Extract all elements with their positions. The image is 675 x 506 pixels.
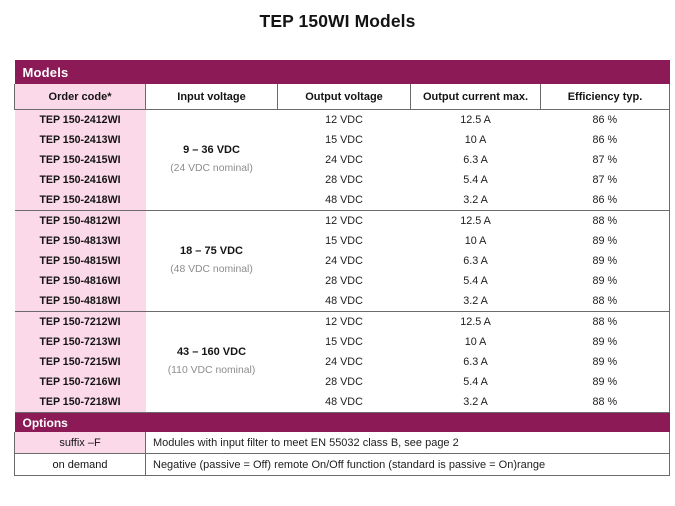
option-row: on demand Negative (passive = Off) remot… — [15, 454, 670, 476]
options-banner-label: Options — [15, 413, 670, 433]
output-current-cell: 5.4 A — [411, 372, 541, 392]
option-row: suffix –F Modules with input filter to m… — [15, 432, 670, 454]
options-banner-row: Options — [15, 413, 670, 433]
table-row: TEP 150-7216WI 28 VDC 5.4 A 89 % — [15, 372, 670, 392]
input-voltage-nominal: (24 VDC nominal) — [146, 161, 278, 176]
table-row: TEP 150-4815WI 24 VDC 6.3 A 89 % — [15, 251, 670, 271]
efficiency-cell: 87 % — [541, 170, 670, 190]
output-current-cell: 10 A — [411, 231, 541, 251]
models-table-container: Models Order code* Input voltage Output … — [14, 60, 669, 476]
efficiency-cell: 88 % — [541, 291, 670, 312]
efficiency-cell: 89 % — [541, 231, 670, 251]
option-description: Modules with input filter to meet EN 550… — [146, 432, 670, 454]
table-row: TEP 150-2412WI 9 – 36 VDC (24 VDC nomina… — [15, 110, 670, 131]
table-row: TEP 150-4812WI 18 – 75 VDC (48 VDC nomin… — [15, 211, 670, 232]
table-row: TEP 150-2415WI 24 VDC 6.3 A 87 % — [15, 150, 670, 170]
column-header-input-voltage: Input voltage — [146, 84, 278, 110]
table-row: TEP 150-7218WI 48 VDC 3.2 A 88 % — [15, 392, 670, 413]
order-code-cell: TEP 150-2412WI — [15, 110, 146, 131]
table-row: TEP 150-7215WI 24 VDC 6.3 A 89 % — [15, 352, 670, 372]
column-header-output-voltage: Output voltage — [278, 84, 411, 110]
input-voltage-cell: 43 – 160 VDC (110 VDC nominal) — [146, 312, 278, 413]
output-voltage-cell: 15 VDC — [278, 332, 411, 352]
output-voltage-cell: 12 VDC — [278, 110, 411, 131]
order-code-cell: TEP 150-4812WI — [15, 211, 146, 232]
document-page: TEP 150WI Models Models Order code* Inpu… — [0, 0, 675, 506]
output-current-cell: 5.4 A — [411, 170, 541, 190]
models-table-body: Models Order code* Input voltage Output … — [15, 60, 670, 476]
efficiency-cell: 87 % — [541, 150, 670, 170]
efficiency-cell: 89 % — [541, 372, 670, 392]
output-voltage-cell: 48 VDC — [278, 392, 411, 413]
efficiency-cell: 89 % — [541, 332, 670, 352]
input-voltage-nominal: (48 VDC nominal) — [146, 262, 278, 277]
output-voltage-cell: 28 VDC — [278, 170, 411, 190]
order-code-cell: TEP 150-4818WI — [15, 291, 146, 312]
option-key: suffix –F — [15, 432, 146, 454]
table-row: TEP 150-4818WI 48 VDC 3.2 A 88 % — [15, 291, 670, 312]
output-voltage-cell: 28 VDC — [278, 372, 411, 392]
order-code-cell: TEP 150-2418WI — [15, 190, 146, 211]
output-current-cell: 6.3 A — [411, 251, 541, 271]
output-voltage-cell: 48 VDC — [278, 190, 411, 211]
output-voltage-cell: 48 VDC — [278, 291, 411, 312]
output-voltage-cell: 15 VDC — [278, 231, 411, 251]
output-current-cell: 12.5 A — [411, 211, 541, 232]
output-current-cell: 3.2 A — [411, 392, 541, 413]
section-banner-label: Models — [15, 60, 670, 84]
efficiency-cell: 86 % — [541, 110, 670, 131]
output-current-cell: 3.2 A — [411, 190, 541, 211]
table-row: TEP 150-4813WI 15 VDC 10 A 89 % — [15, 231, 670, 251]
output-current-cell: 3.2 A — [411, 291, 541, 312]
section-banner-row: Models — [15, 60, 670, 84]
column-header-row: Order code* Input voltage Output voltage… — [15, 84, 670, 110]
table-row: TEP 150-7212WI 43 – 160 VDC (110 VDC nom… — [15, 312, 670, 333]
table-row: TEP 150-4816WI 28 VDC 5.4 A 89 % — [15, 271, 670, 291]
efficiency-cell: 88 % — [541, 392, 670, 413]
input-voltage-range: 43 – 160 VDC — [146, 345, 278, 361]
efficiency-cell: 89 % — [541, 251, 670, 271]
column-header-output-current: Output current max. — [411, 84, 541, 110]
output-current-cell: 12.5 A — [411, 312, 541, 333]
order-code-cell: TEP 150-7215WI — [15, 352, 146, 372]
efficiency-cell: 89 % — [541, 271, 670, 291]
option-key: on demand — [15, 454, 146, 476]
table-row: TEP 150-7213WI 15 VDC 10 A 89 % — [15, 332, 670, 352]
order-code-cell: TEP 150-2415WI — [15, 150, 146, 170]
output-current-cell: 10 A — [411, 332, 541, 352]
output-voltage-cell: 12 VDC — [278, 312, 411, 333]
order-code-cell: TEP 150-7213WI — [15, 332, 146, 352]
output-voltage-cell: 24 VDC — [278, 352, 411, 372]
page-title: TEP 150WI Models — [0, 11, 675, 32]
input-voltage-cell: 9 – 36 VDC (24 VDC nominal) — [146, 110, 278, 211]
output-voltage-cell: 15 VDC — [278, 130, 411, 150]
input-voltage-cell: 18 – 75 VDC (48 VDC nominal) — [146, 211, 278, 312]
efficiency-cell: 88 % — [541, 312, 670, 333]
efficiency-cell: 86 % — [541, 130, 670, 150]
output-current-cell: 5.4 A — [411, 271, 541, 291]
input-voltage-range: 18 – 75 VDC — [146, 244, 278, 260]
order-code-cell: TEP 150-4813WI — [15, 231, 146, 251]
order-code-cell: TEP 150-7216WI — [15, 372, 146, 392]
efficiency-cell: 86 % — [541, 190, 670, 211]
models-table: Models Order code* Input voltage Output … — [14, 60, 670, 476]
output-voltage-cell: 24 VDC — [278, 251, 411, 271]
order-code-cell: TEP 150-7212WI — [15, 312, 146, 333]
input-voltage-range: 9 – 36 VDC — [146, 143, 278, 159]
table-row: TEP 150-2418WI 48 VDC 3.2 A 86 % — [15, 190, 670, 211]
order-code-cell: TEP 150-4816WI — [15, 271, 146, 291]
output-current-cell: 6.3 A — [411, 150, 541, 170]
output-current-cell: 12.5 A — [411, 110, 541, 131]
order-code-cell: TEP 150-7218WI — [15, 392, 146, 413]
order-code-cell: TEP 150-4815WI — [15, 251, 146, 271]
output-voltage-cell: 24 VDC — [278, 150, 411, 170]
output-voltage-cell: 12 VDC — [278, 211, 411, 232]
output-current-cell: 10 A — [411, 130, 541, 150]
column-header-order-code: Order code* — [15, 84, 146, 110]
column-header-efficiency: Efficiency typ. — [541, 84, 670, 110]
order-code-cell: TEP 150-2413WI — [15, 130, 146, 150]
output-current-cell: 6.3 A — [411, 352, 541, 372]
order-code-cell: TEP 150-2416WI — [15, 170, 146, 190]
input-voltage-nominal: (110 VDC nominal) — [146, 363, 278, 378]
table-row: TEP 150-2416WI 28 VDC 5.4 A 87 % — [15, 170, 670, 190]
option-description: Negative (passive = Off) remote On/Off f… — [146, 454, 670, 476]
output-voltage-cell: 28 VDC — [278, 271, 411, 291]
efficiency-cell: 89 % — [541, 352, 670, 372]
table-row: TEP 150-2413WI 15 VDC 10 A 86 % — [15, 130, 670, 150]
efficiency-cell: 88 % — [541, 211, 670, 232]
